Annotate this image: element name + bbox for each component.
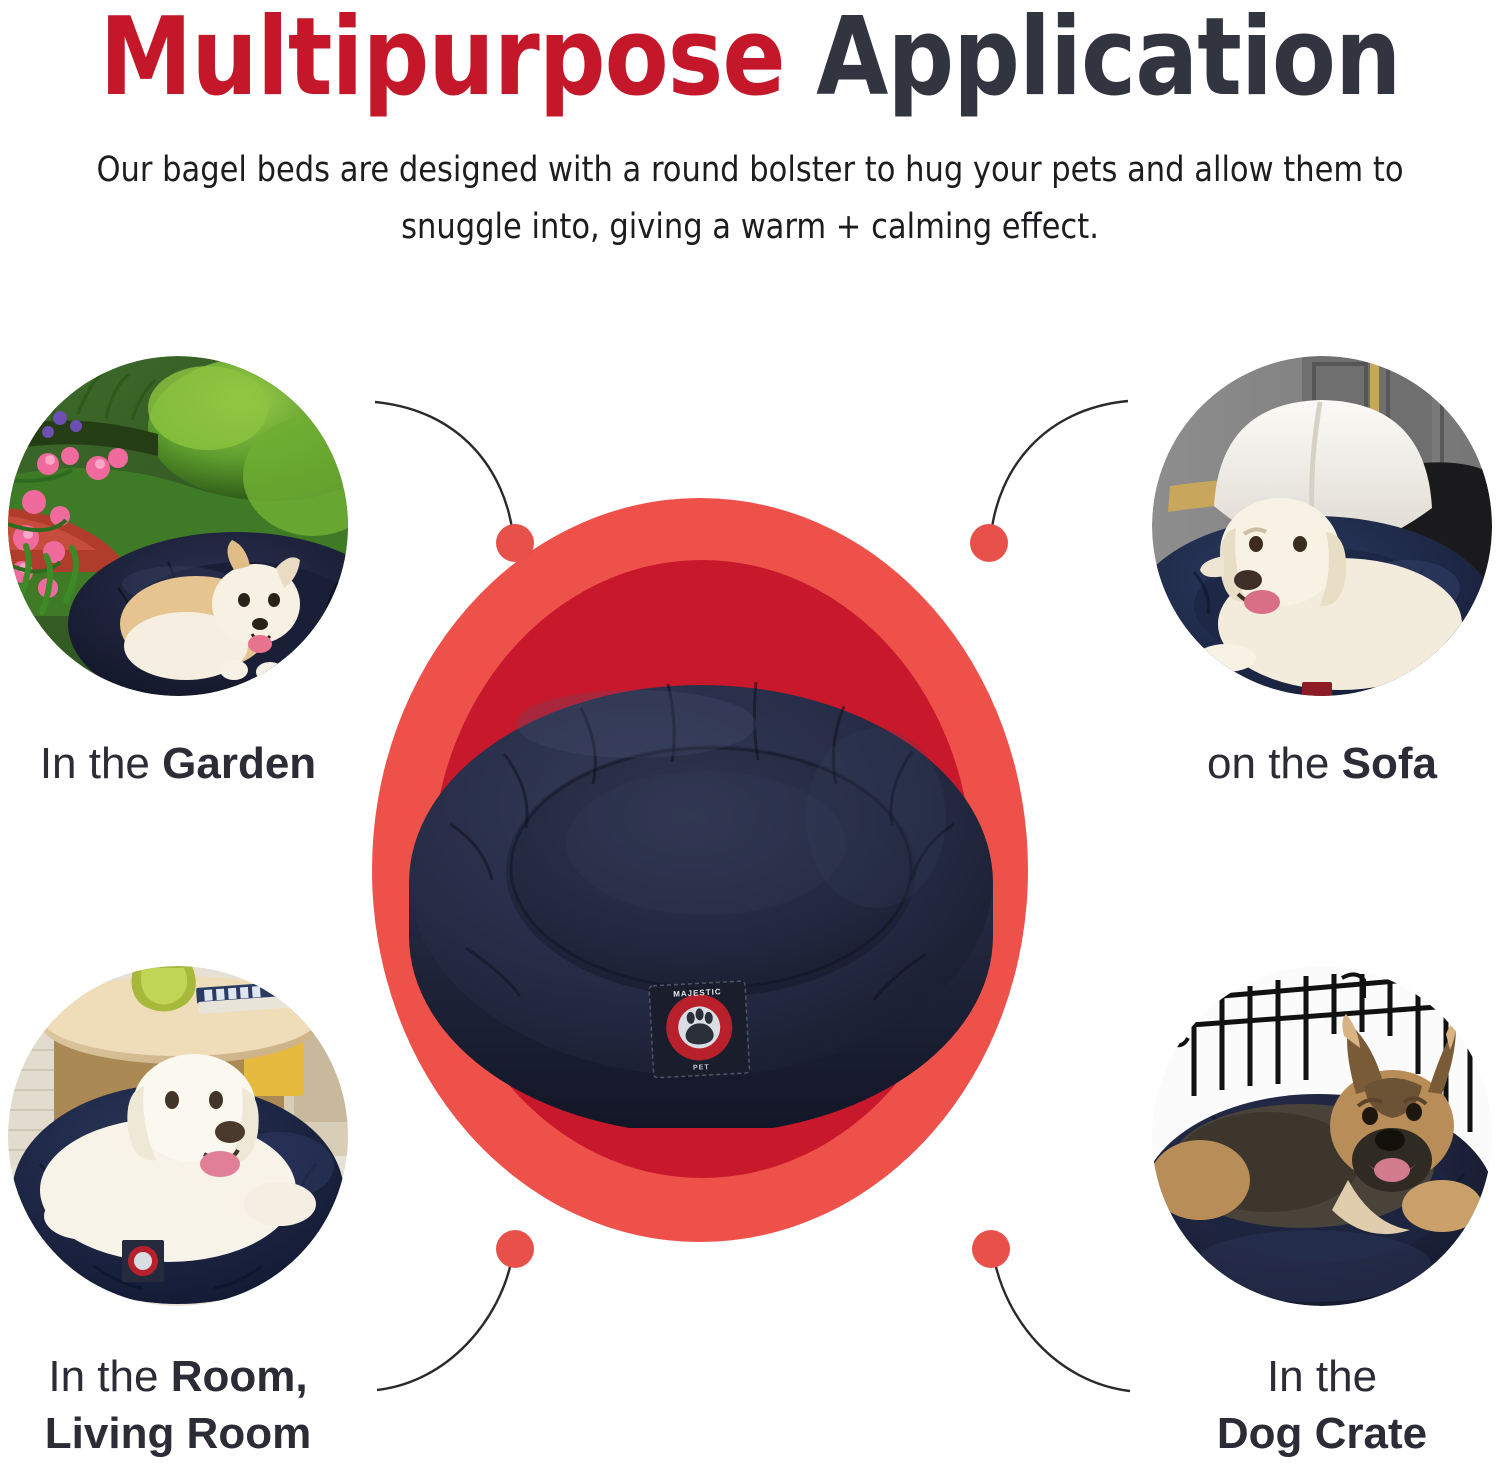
caption-garden-bold: Garden — [162, 739, 316, 788]
caption-crate-prefix: In the — [1267, 1352, 1377, 1401]
caption-crate-bold-line2: Dog Crate — [1217, 1409, 1427, 1458]
living-room-scene-illustration — [8, 966, 348, 1306]
caption-sofa-bold: Sofa — [1342, 739, 1437, 788]
bagel-bed-illustration: MAJESTIC PET — [406, 628, 996, 1128]
caption-room-bold: Room, — [171, 1352, 308, 1401]
connector-line-crate — [994, 1258, 1130, 1391]
majestic-pet-tag-small — [122, 1240, 164, 1282]
page-title: Multipurpose Application — [30, 0, 1470, 112]
callout-photo-living-room — [8, 966, 348, 1306]
caption-garden-prefix: In the — [40, 739, 162, 788]
caption-sofa-prefix: on the — [1207, 739, 1342, 788]
header-block: Multipurpose Application Our bagel beds … — [0, 0, 1500, 255]
caption-living-room: In the Room,Living Room — [0, 1348, 356, 1462]
page-title-dark: Application — [785, 0, 1401, 120]
svg-text:PET: PET — [693, 1064, 710, 1072]
callout-photo-dog-crate — [1152, 966, 1492, 1306]
sofa-scene-illustration — [1152, 356, 1492, 696]
callout-photo-garden — [8, 356, 348, 696]
caption-room-bold-line2: Living Room — [45, 1409, 311, 1458]
caption-garden: In the Garden — [0, 735, 356, 792]
connector-line-room — [377, 1258, 512, 1390]
garden-scene-illustration — [8, 356, 348, 696]
product-image-bagel-bed: MAJESTIC PET — [406, 628, 996, 1128]
caption-sofa: on the Sofa — [1144, 735, 1500, 792]
page-subtitle: Our bagel beds are designed with a round… — [61, 112, 1438, 255]
callout-photo-sofa — [1152, 356, 1492, 696]
dog-crate-scene-illustration — [1152, 966, 1492, 1306]
majestic-pet-tag: MAJESTIC PET — [649, 981, 750, 1078]
caption-dog-crate: In theDog Crate — [1144, 1348, 1500, 1462]
caption-room-prefix: In the — [48, 1352, 170, 1401]
page-title-red: Multipurpose — [100, 0, 785, 120]
center-product-graphic: MAJESTIC PET — [372, 498, 1028, 1242]
